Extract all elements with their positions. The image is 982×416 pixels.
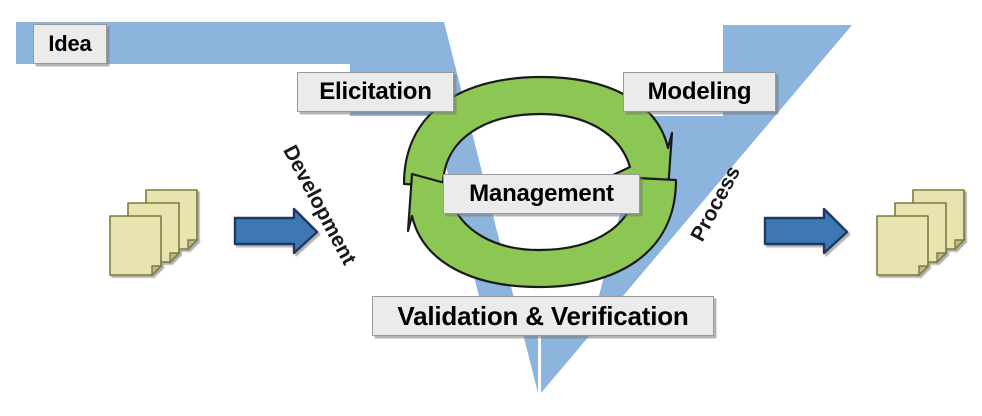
label-box-modeling[interactable]: Modeling	[623, 72, 776, 112]
diagram-canvas: Development Process Idea Elicitation Mod…	[0, 0, 982, 416]
label-box-management[interactable]: Management	[443, 174, 640, 214]
right-arrow-icon	[235, 209, 317, 253]
label-box-idea[interactable]: Idea	[33, 24, 107, 64]
right-arrow-icon	[765, 209, 847, 253]
label-box-elicitation[interactable]: Elicitation	[297, 72, 454, 112]
document-stack-icon	[110, 190, 197, 275]
label-box-validation-verification[interactable]: Validation & Verification	[372, 296, 714, 336]
document-stack-icon	[877, 190, 964, 275]
